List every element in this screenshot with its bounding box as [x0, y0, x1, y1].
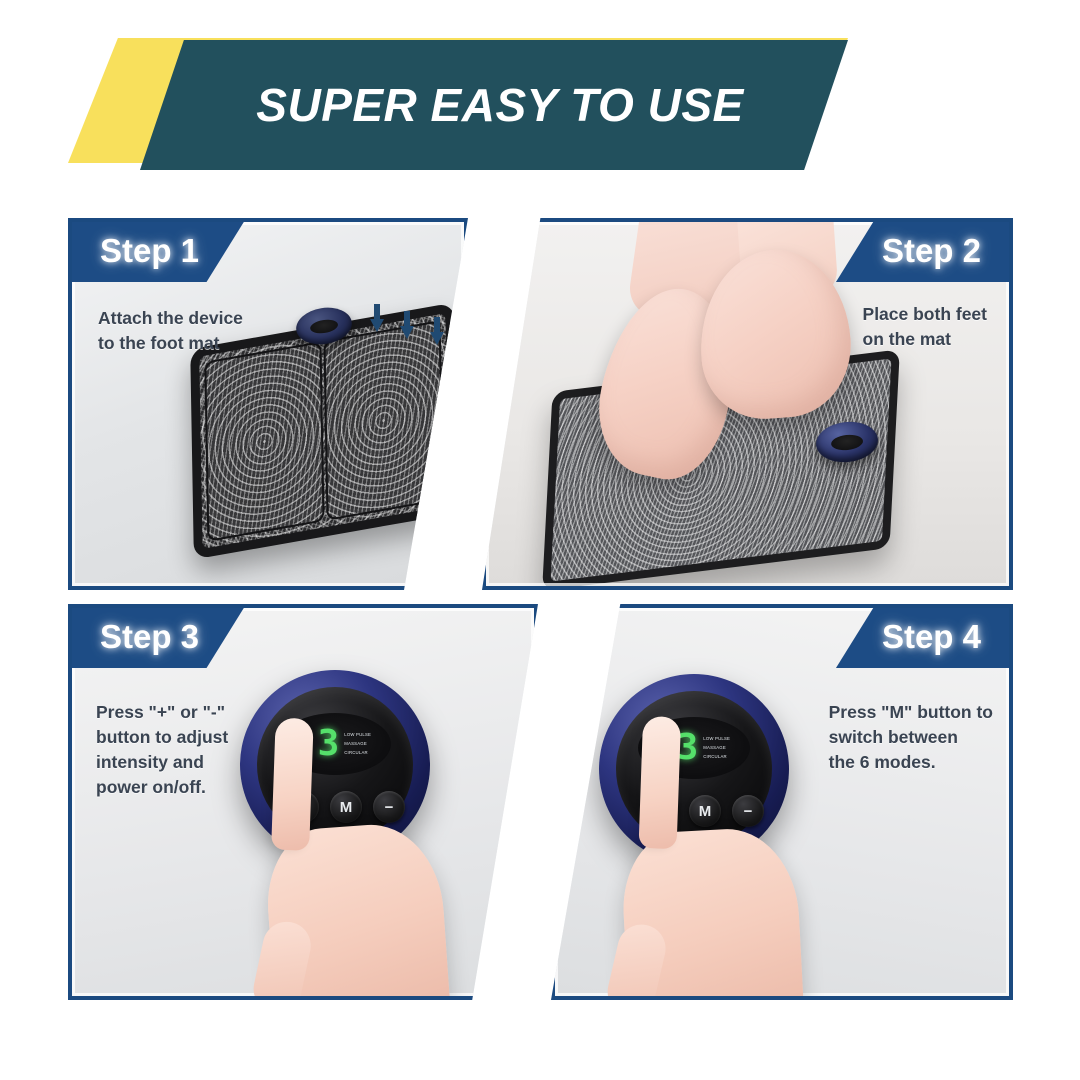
lcd-label: CIRCULAR [703, 755, 730, 759]
arrow-down-icon [430, 317, 444, 347]
step-2-caption: Place both feet on the mat [863, 302, 987, 352]
step-1-caption: Attach the device to the foot mat [98, 306, 243, 356]
attach-arrows [370, 304, 444, 334]
step-3-panel: MODE TIME STEP 3 LOW PULSE MASSAGE CIRCU… [68, 604, 538, 1000]
step-3-caption: Press "+" or "-" button to adjust intens… [96, 700, 228, 799]
arrow-down-icon [400, 311, 414, 341]
step-3-caption-line-4: power on/off. [96, 775, 228, 800]
step-4-caption: Press "M" button to switch between the 6… [829, 700, 993, 775]
step-3-caption-line-3: intensity and [96, 750, 228, 775]
step-2-caption-line-2: on the mat [863, 327, 987, 352]
index-finger [639, 716, 682, 849]
lcd-right-labels: LOW PULSE MASSAGE CIRCULAR [703, 737, 730, 760]
step-4-caption-line-1: Press "M" button to [829, 700, 993, 725]
step-2-label-text: Step 2 [882, 232, 981, 270]
mat-right-pad [323, 320, 443, 521]
step-2-caption-line-1: Place both feet [863, 302, 987, 327]
step-1-caption-line-1: Attach the device [98, 306, 243, 331]
lcd-label: CIRCULAR [344, 751, 371, 755]
mode-button[interactable]: M [330, 791, 362, 823]
step-1-panel: Attach the device to the foot mat Step 1 [68, 218, 468, 590]
index-finger [271, 718, 314, 851]
minus-button[interactable]: − [373, 791, 405, 823]
step-3-label-text: Step 3 [100, 618, 199, 656]
mode-button[interactable]: M [689, 795, 721, 827]
thumb [603, 920, 670, 1000]
step-2-panel: Place both feet on the mat Step 2 [482, 218, 1013, 590]
lcd-label: LOW PULSE [703, 737, 730, 741]
step-4-label-text: Step 4 [882, 618, 981, 656]
lcd-label: LOW PULSE [344, 733, 371, 737]
thumb [249, 917, 315, 1000]
lcd-intensity-value: 3 [318, 729, 340, 759]
minus-button[interactable]: − [732, 795, 764, 827]
step-3-caption-line-1: Press "+" or "-" [96, 700, 228, 725]
pressing-hand [619, 826, 805, 1000]
mat-left-pad [204, 341, 324, 542]
lcd-label: MASSAGE [703, 746, 730, 750]
step-1-label-text: Step 1 [100, 232, 199, 270]
step-4-caption-line-3: the 6 modes. [829, 750, 993, 775]
pressing-hand [263, 820, 453, 1000]
step-1-caption-line-2: to the foot mat [98, 331, 243, 356]
lcd-right-labels: LOW PULSE MASSAGE CIRCULAR [344, 733, 371, 756]
arrow-down-icon [370, 304, 384, 334]
lcd-label: MASSAGE [344, 742, 371, 746]
step-4-caption-line-2: switch between [829, 725, 993, 750]
step-4-panel: MODE TIME STEP 3 LOW PULSE MASSAGE CIRCU… [551, 604, 1013, 1000]
steps-grid: Attach the device to the foot mat Step 1… [0, 0, 1080, 1080]
step-3-caption-line-2: button to adjust [96, 725, 228, 750]
